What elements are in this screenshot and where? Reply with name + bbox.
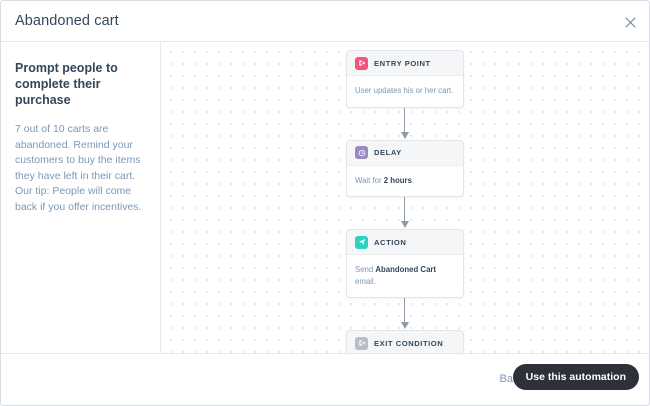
workflow-node-exit-condition[interactable]: EXIT CONDITION User completes order or d… (346, 330, 464, 353)
chevron-down-icon (401, 221, 409, 228)
node-label: DELAY (374, 148, 402, 157)
connector-arrow (346, 298, 464, 330)
clock-icon (355, 146, 368, 159)
connector-line (404, 108, 405, 135)
node-body-prefix: Send (355, 265, 375, 274)
enter-arrow-icon (355, 57, 368, 70)
page-title: Abandoned cart (15, 13, 119, 29)
node-body-strong: 2 hours (384, 176, 412, 185)
workflow-canvas[interactable]: ENTRY POINT User updates his or her cart… (161, 42, 650, 353)
chevron-down-icon (401, 132, 409, 139)
node-header: ENTRY POINT (347, 51, 463, 76)
connector-arrow (346, 197, 464, 229)
side-panel-heading: Prompt people to complete their purchase (15, 60, 146, 108)
node-body-suffix: email. (355, 277, 376, 286)
workflow-node-delay[interactable]: DELAY Wait for 2 hours. (346, 140, 464, 198)
workflow-node-action[interactable]: ACTION Send Abandoned Cart email. (346, 229, 464, 298)
abandoned-cart-modal: Abandoned cart Prompt people to complete… (0, 0, 650, 406)
workflow-flow: ENTRY POINT User updates his or her cart… (346, 50, 464, 353)
node-body-prefix: User updates his or her cart. (355, 86, 453, 95)
paper-plane-icon (355, 236, 368, 249)
node-header: EXIT CONDITION (347, 331, 463, 353)
node-label: ACTION (374, 238, 406, 247)
close-icon[interactable] (618, 10, 642, 34)
use-this-automation-button[interactable]: Use this automation (513, 364, 639, 390)
node-label: EXIT CONDITION (374, 339, 443, 348)
connector-arrow (346, 108, 464, 140)
workflow-node-entry-point[interactable]: ENTRY POINT User updates his or her cart… (346, 50, 464, 108)
side-panel-description: 7 out of 10 carts are abandoned. Remind … (15, 122, 146, 215)
side-panel: Prompt people to complete their purchase… (1, 42, 161, 353)
modal-footer: Back Use this automation (1, 353, 650, 406)
node-body-suffix: . (412, 176, 414, 185)
chevron-down-icon (401, 322, 409, 329)
node-body: Send Abandoned Cart email. (347, 255, 463, 297)
node-body: Wait for 2 hours. (347, 166, 463, 197)
node-header: DELAY (347, 141, 463, 166)
connector-line (404, 197, 405, 224)
exit-arrow-icon (355, 337, 368, 350)
node-label: ENTRY POINT (374, 59, 431, 68)
node-header: ACTION (347, 230, 463, 255)
node-body-prefix: Wait for (355, 176, 384, 185)
node-body-strong: Abandoned Cart (375, 265, 436, 274)
connector-line (404, 298, 405, 325)
modal-header: Abandoned cart (1, 1, 650, 42)
node-body: User updates his or her cart. (347, 76, 463, 107)
modal-body: Prompt people to complete their purchase… (1, 42, 650, 353)
